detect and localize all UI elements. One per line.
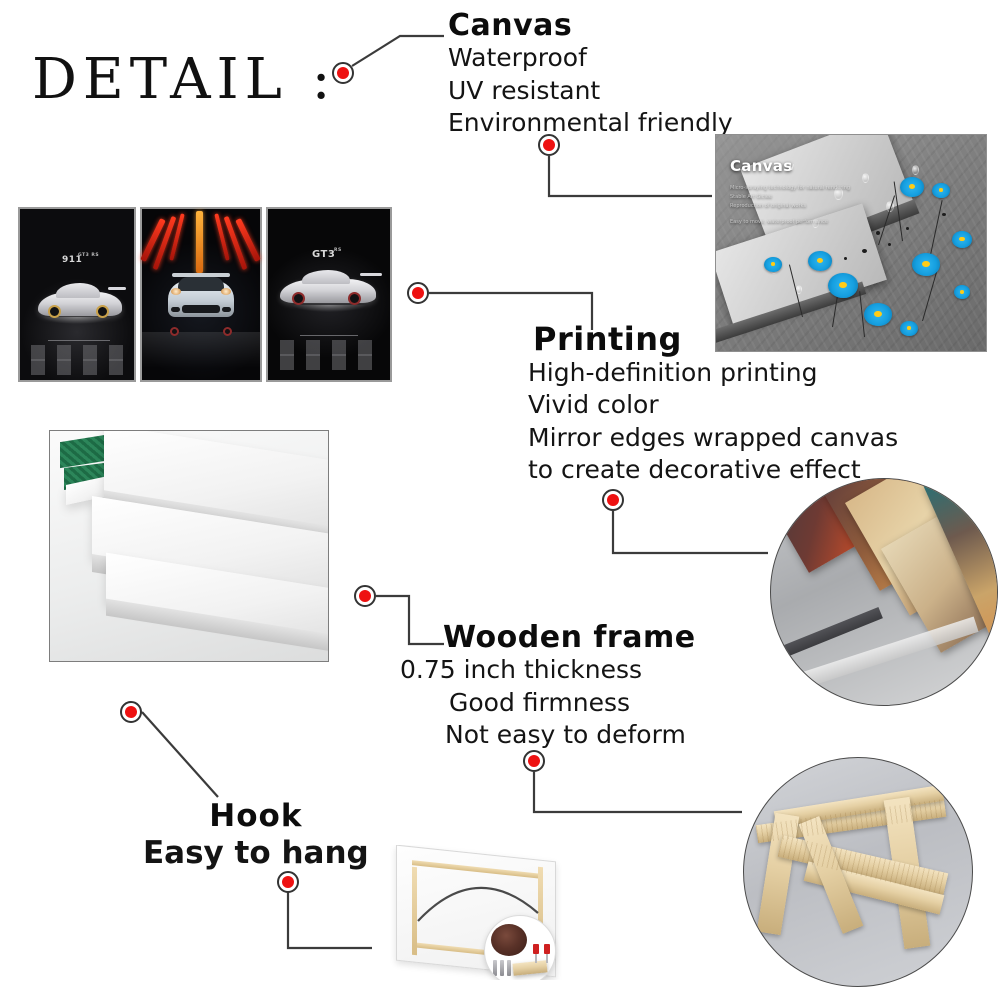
callout-wooden-frame-line-1: 0.75 inch thickness [400, 654, 696, 687]
image-wooden-stretcher-frame [743, 757, 973, 987]
marker-hardware[interactable] [277, 871, 299, 893]
poster-panel-1: 911 GT3 RS [18, 207, 136, 382]
image-three-panel-car-posters: 911 GT3 RS [18, 207, 394, 382]
callout-wooden-frame-line-2: Good firmness [449, 687, 696, 720]
flowers-overlay-sub-2: Stable Art Giclee [730, 194, 772, 202]
poster-panel-2 [140, 207, 262, 382]
marker-canvas[interactable] [332, 62, 354, 84]
callout-hook: Hook Easy to hang [143, 800, 369, 874]
poster-1-sublabel: GT3 RS [78, 253, 99, 258]
detail-infographic: DETAIL : Canvas Waterproof UV resistant … [0, 0, 1000, 1000]
marker-frame[interactable] [523, 750, 545, 772]
callout-hook-heading: Hook [143, 800, 369, 833]
callout-wooden-frame: Wooden frame 0.75 inch thickness Good fi… [400, 622, 696, 752]
callout-canvas-heading: Canvas [448, 10, 733, 42]
image-blue-flower-canvas-sample: Canvas ∨ Micro-spraying technology for n… [715, 134, 987, 352]
poster-3-sublabel: RS [334, 248, 342, 253]
marker-hook[interactable] [120, 701, 142, 723]
flowers-overlay-sub-1: Micro-spraying technology for natural re… [730, 185, 850, 193]
callout-canvas-line-3: Environmental friendly [448, 107, 733, 140]
poster-panel-3: GT3 RS [266, 207, 392, 382]
callout-printing-line-3: Mirror edges wrapped canvas [528, 422, 898, 455]
marker-edges[interactable] [602, 489, 624, 511]
callout-printing-line-1: High-definition printing [528, 357, 898, 390]
flowers-overlay-sub-3: Reproduction of original works [730, 203, 806, 211]
image-stacked-white-canvas-boards [49, 430, 329, 662]
callout-wooden-frame-heading: Wooden frame [443, 622, 696, 654]
callout-printing-line-2: Vivid color [528, 389, 898, 422]
marker-printing[interactable] [407, 282, 429, 304]
callout-canvas-line-1: Waterproof [448, 42, 733, 75]
callout-canvas: Canvas Waterproof UV resistant Environme… [448, 10, 733, 140]
callout-canvas-line-2: UV resistant [448, 75, 733, 108]
image-mirror-wrapped-edges [770, 478, 998, 706]
flowers-overlay-sub-4: Easy to move, waterproof performance [730, 219, 828, 227]
marker-wood[interactable] [354, 585, 376, 607]
poster-3-label: GT3 [312, 249, 335, 260]
callout-hook-line-1: Easy to hang [143, 833, 369, 873]
image-canvas-back-hanging-hardware [388, 845, 588, 980]
flowers-overlay-title: Canvas [730, 157, 792, 175]
hardware-inset [484, 915, 556, 980]
callout-wooden-frame-line-3: Not easy to deform [445, 719, 696, 752]
chevron-down-icon: ∨ [788, 162, 795, 173]
